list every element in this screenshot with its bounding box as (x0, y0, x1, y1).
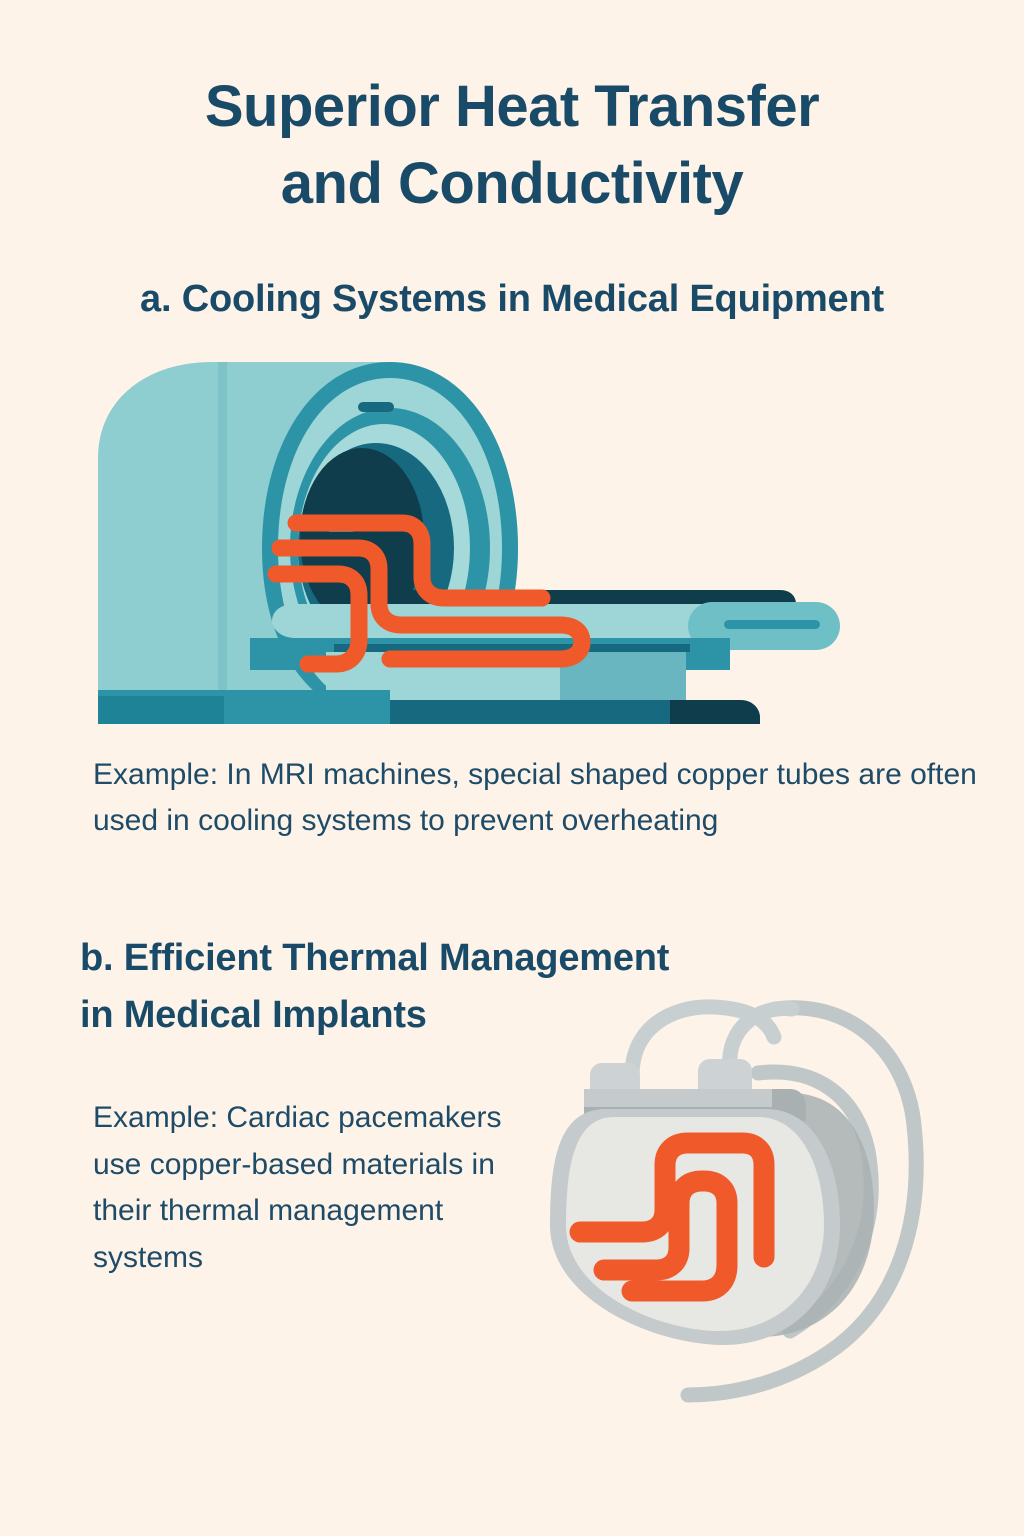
cardiac-pacemaker-illustration (528, 985, 953, 1415)
indicator-light-top (358, 402, 394, 412)
section-a-heading: a. Cooling Systems in Medical Equipment (0, 278, 1024, 321)
section-b-heading-line-1: b. Efficient Thermal Management (80, 930, 860, 987)
section-a-body: Example: In MRI machines, special shaped… (93, 752, 978, 844)
section-b-body: Example: Cardiac pacemakers use copper-b… (93, 1095, 523, 1281)
infographic-page: Superior Heat Transfer and Conductivity … (0, 0, 1024, 1536)
page-title-line-1: Superior Heat Transfer (0, 68, 1024, 145)
page-title-line-2: and Conductivity (0, 145, 1024, 222)
pacemaker-icon (528, 985, 953, 1415)
page-title: Superior Heat Transfer and Conductivity (0, 68, 1024, 222)
mri-scanner-icon (90, 352, 840, 732)
mri-scanner-illustration (90, 352, 840, 732)
